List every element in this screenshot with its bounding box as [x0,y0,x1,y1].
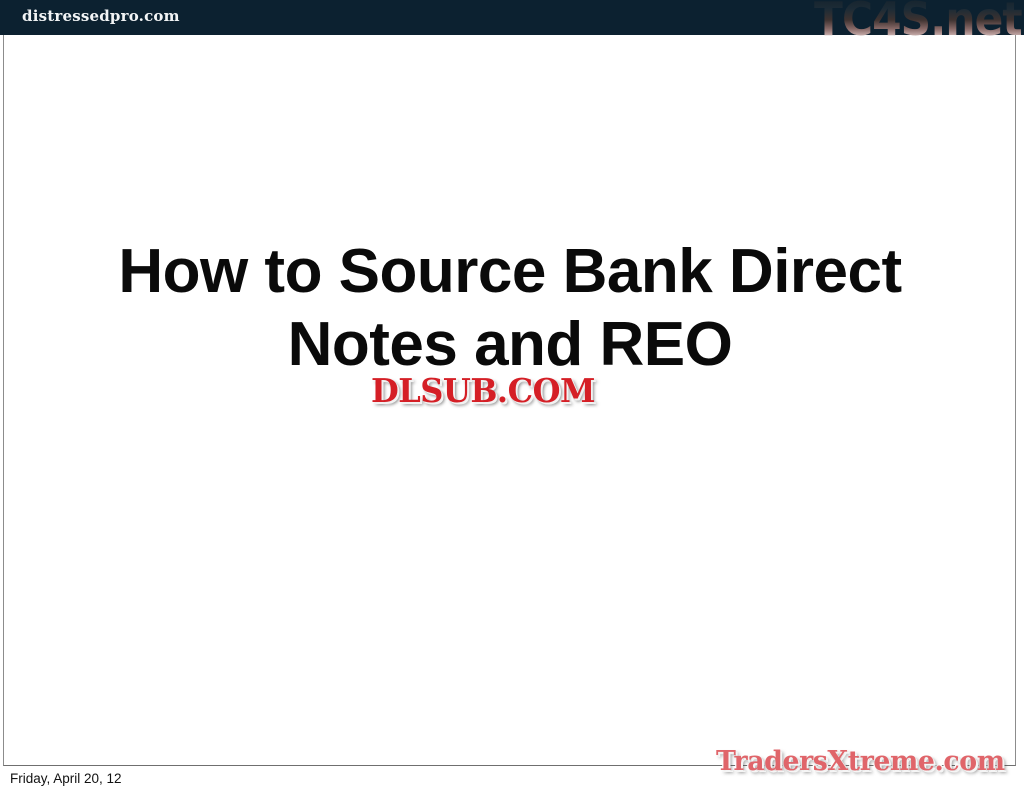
title-line-1: How to Source Bank Direct [70,236,950,309]
page-title: How to Source Bank Direct Notes and REO [70,236,950,381]
title-line-2: Notes and REO [70,309,950,382]
site-name-label: distressedpro.com [22,7,180,25]
footer-date-label: Friday, April 20, 12 [10,771,122,786]
header-bar: distressedpro.com [0,0,1024,35]
slide-frame [3,0,1016,766]
